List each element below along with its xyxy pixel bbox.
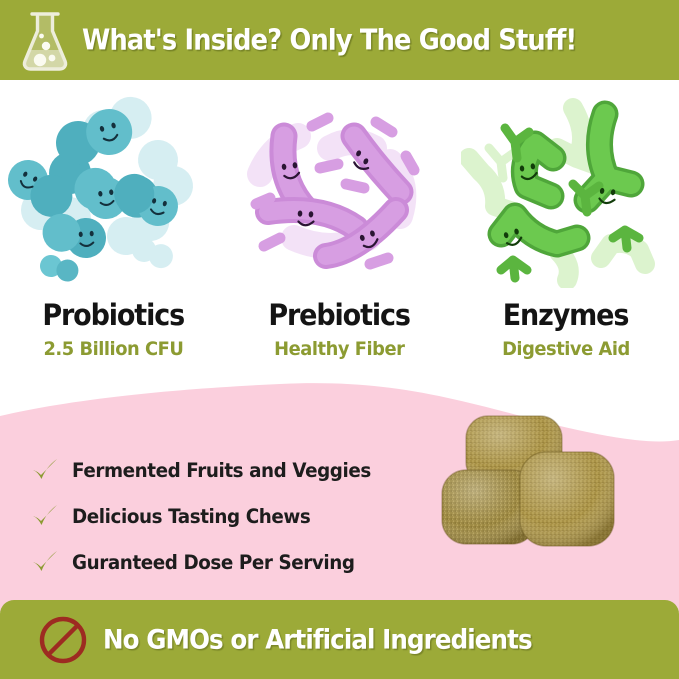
column-subtitle: Healthy Fiber	[274, 338, 404, 360]
header-banner: What's Inside? Only The Good Stuff!	[0, 0, 679, 80]
check-icon	[30, 455, 60, 485]
soft-chews-photo	[428, 404, 666, 559]
flask-icon	[16, 8, 74, 72]
features-section: Fermented Fruits and Veggies Delicious T…	[0, 382, 679, 612]
column-enzymes: Enzymes Digestive Aid	[453, 80, 679, 390]
list-item-label: Delicious Tasting Chews	[72, 505, 310, 528]
infographic-panel: What's Inside? Only The Good Stuff!	[0, 0, 679, 679]
footer-text: No GMOs or Artificial Ingredients	[103, 624, 532, 655]
column-subtitle: Digestive Aid	[502, 338, 630, 360]
column-title: Probiotics	[42, 298, 184, 332]
check-icon	[30, 547, 60, 577]
check-icon	[30, 501, 60, 531]
column-probiotics: Probiotics 2.5 Billion CFU	[0, 80, 226, 390]
list-item-label: Fermented Fruits and Veggies	[72, 459, 371, 482]
enzyme-molecules-illustration	[461, 88, 671, 288]
column-subtitle: 2.5 Billion CFU	[43, 338, 183, 360]
list-item: Fermented Fruits and Veggies	[30, 450, 440, 490]
column-prebiotics: Prebiotics Healthy Fiber	[226, 80, 452, 390]
list-item: Delicious Tasting Chews	[30, 496, 440, 536]
column-title: Prebiotics	[269, 298, 410, 332]
column-title: Enzymes	[503, 298, 629, 332]
ingredient-columns: Probiotics 2.5 Billion CFU	[0, 80, 679, 390]
probiotic-bacteria-illustration	[8, 88, 218, 288]
list-item: Guranteed Dose Per Serving	[30, 542, 440, 582]
prebiotic-bacilli-illustration	[234, 88, 444, 288]
feature-list: Fermented Fruits and Veggies Delicious T…	[30, 450, 440, 588]
no-entry-icon	[38, 615, 88, 665]
footer-banner: No GMOs or Artificial Ingredients	[0, 600, 679, 679]
list-item-label: Guranteed Dose Per Serving	[72, 551, 355, 574]
page-title: What's Inside? Only The Good Stuff!	[82, 24, 576, 57]
